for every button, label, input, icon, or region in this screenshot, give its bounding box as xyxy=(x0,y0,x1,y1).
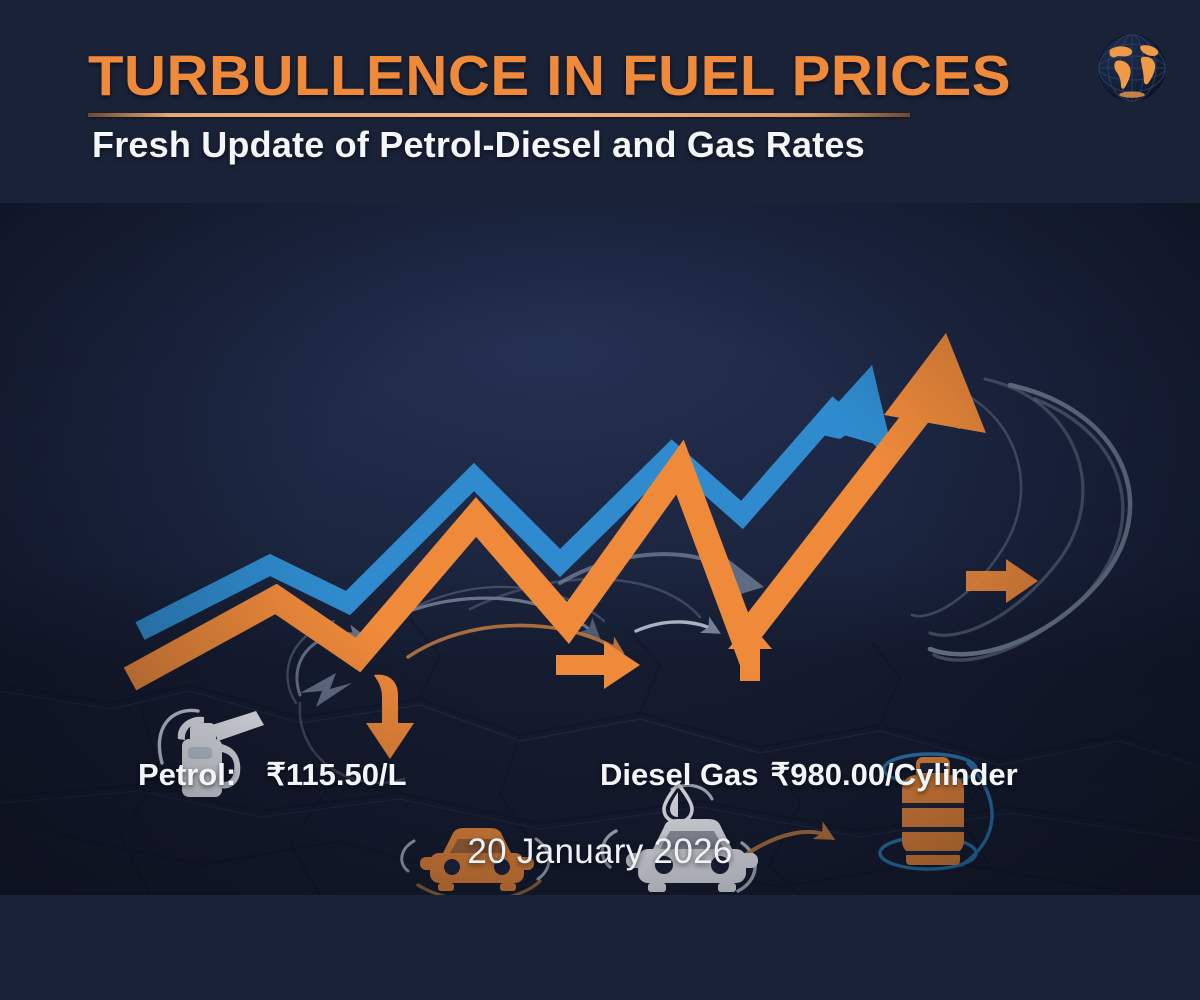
fuel-price-poster: TURBULLENCE IN FUEL PRICES Fresh Update … xyxy=(0,0,1200,1000)
page-subtitle: Fresh Update of Petrol-Diesel and Gas Ra… xyxy=(92,124,972,166)
page-title: TURBULLENCE IN FUEL PRICES xyxy=(88,48,935,105)
gas-price-item: Diesel Gas₹980.00/Cylinder xyxy=(600,757,1018,793)
publish-date: 20 January 2026 xyxy=(0,832,1200,872)
orange-down-arrow xyxy=(366,675,414,759)
price-row: Petrol:₹115.50/L Diesel Gas₹980.00/Cylin… xyxy=(0,757,1200,803)
gas-value: ₹980.00/Cylinder xyxy=(771,757,1018,792)
letterbox-bottom xyxy=(0,895,1200,1000)
petrol-price-item: Petrol:₹115.50/L xyxy=(138,757,407,793)
orange-right-arrow xyxy=(556,641,640,689)
petrol-label: Petrol: xyxy=(138,757,236,792)
petrol-value: ₹115.50/L xyxy=(266,757,406,792)
title-underline xyxy=(88,113,910,117)
globe-icon xyxy=(1086,22,1178,114)
gas-label: Diesel Gas xyxy=(600,757,759,792)
